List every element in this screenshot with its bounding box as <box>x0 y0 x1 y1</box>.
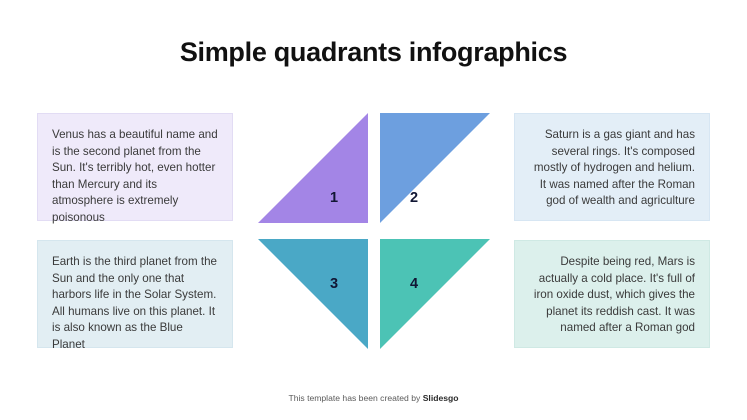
text-card-venus: Venus has a beautiful name and is the se… <box>37 113 233 221</box>
text-card-saturn-body: Saturn is a gas giant and has several ri… <box>529 127 695 210</box>
quadrant-number-2: 2 <box>410 190 418 206</box>
text-card-venus-body: Venus has a beautiful name and is the se… <box>52 127 218 227</box>
text-card-mars: Despite being red, Mars is actually a co… <box>514 240 710 348</box>
footer-credit: This template has been created by Slides… <box>0 393 747 403</box>
slide-canvas: Simple quadrants infographics Venus has … <box>0 0 747 420</box>
text-card-mars-body: Despite being red, Mars is actually a co… <box>529 254 695 337</box>
quadrant-triangle-3 <box>258 239 368 349</box>
quadrant-diagram: 1 2 3 4 <box>258 113 490 349</box>
quadrant-triangle-2 <box>380 113 490 223</box>
quadrant-number-4: 4 <box>410 276 418 292</box>
footer-brand-slidesgo[interactable]: Slidesgo <box>423 393 459 403</box>
text-card-earth: Earth is the third planet from the Sun a… <box>37 240 233 348</box>
text-card-earth-body: Earth is the third planet from the Sun a… <box>52 254 218 354</box>
quadrant-triangle-4 <box>380 239 490 349</box>
page-title: Simple quadrants infographics <box>0 37 747 68</box>
quadrant-number-1: 1 <box>330 190 338 206</box>
quadrant-triangle-1 <box>258 113 368 223</box>
text-card-saturn: Saturn is a gas giant and has several ri… <box>514 113 710 221</box>
footer-credit-prefix: This template has been created by <box>288 393 422 403</box>
quadrant-number-3: 3 <box>330 276 338 292</box>
